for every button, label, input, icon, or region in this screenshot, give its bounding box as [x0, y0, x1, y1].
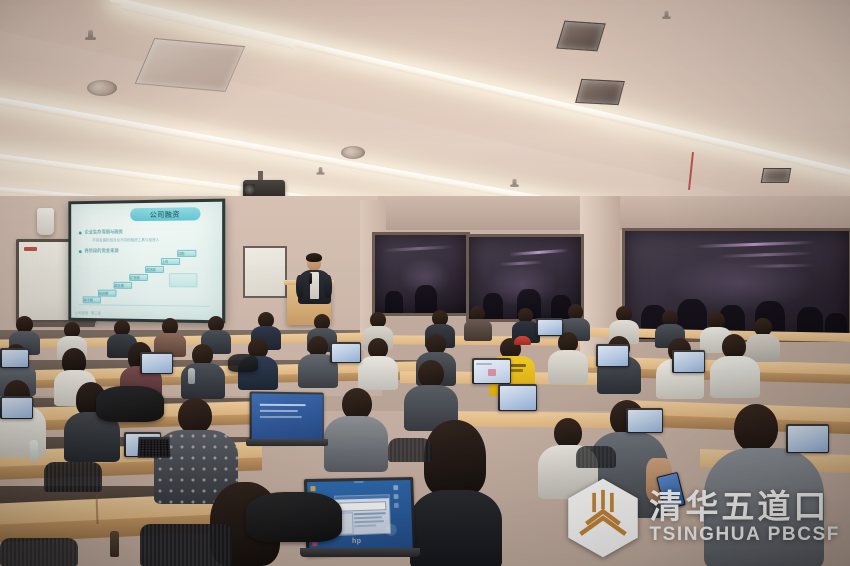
laptop-base: [246, 439, 328, 446]
laptop-screen: [2, 350, 28, 367]
laptop-lid: [250, 391, 324, 443]
laptop-screen: [142, 354, 172, 373]
window-content-line: [354, 524, 376, 526]
window-reflection: [509, 249, 569, 256]
slide-bullet-2: 各阶段的资金来源: [85, 248, 119, 254]
chair-4[interactable]: [388, 438, 432, 462]
backpack-2: [246, 492, 342, 542]
attendee-head: [554, 418, 582, 448]
laptop-lid: [330, 342, 361, 363]
attendee-torso: [710, 356, 760, 398]
attendee-torso: [410, 490, 502, 566]
ceiling: [0, 0, 850, 215]
laptop-lid: [536, 318, 563, 336]
laptop-lid: [140, 352, 173, 374]
laptop-lid: [596, 344, 629, 367]
sprinkler-head-4: [665, 11, 669, 18]
slide-title: 公司融资: [130, 207, 200, 221]
chair-1[interactable]: [44, 462, 102, 492]
slide-bullet-1: 企业生命周期与融资: [85, 229, 123, 235]
desktop-icon[interactable]: [393, 485, 398, 490]
chair-3[interactable]: [0, 538, 78, 566]
slide-axis-x: [79, 304, 210, 306]
laptop-lid: [0, 396, 33, 419]
window-input-field[interactable]: [338, 501, 386, 511]
tsinghua-pbcsf-watermark: 清华五道口 TSINGHUA PBCSF: [566, 478, 840, 558]
slide-step-label-1: 种子期: [84, 297, 93, 302]
window-silhouette: [385, 291, 403, 313]
water-bottle-3: [188, 368, 195, 384]
presenter-arm-left: [296, 275, 304, 298]
attendee-head: [734, 404, 778, 452]
window-silhouette: [415, 285, 437, 313]
desktop-watermark: [385, 524, 397, 536]
desktop-icon[interactable]: [394, 503, 399, 508]
laptop-lid: [472, 358, 511, 384]
laptop-lid: [0, 348, 29, 368]
laptop-lid: [626, 408, 663, 433]
ceiling-vent-1: [135, 38, 246, 92]
laptop-lid: [786, 424, 829, 453]
ceiling-vent-4: [761, 168, 792, 183]
slide-step-label-6: 上市: [162, 259, 168, 264]
ceiling-speaker-1: [87, 80, 117, 96]
attendee-torso: [324, 416, 388, 472]
slide-step-label-4: 扩张期: [130, 275, 139, 280]
laptop-screen: [332, 344, 360, 362]
whiteboard-center: [243, 246, 287, 298]
attendee-torso: [464, 319, 492, 341]
water-bottle-1: [30, 440, 38, 462]
screen-content-line: [259, 409, 297, 411]
window-content-line: [354, 520, 384, 523]
laptop-screen: [598, 346, 628, 366]
window-titlebar: [335, 495, 389, 499]
screen-content-line: [259, 403, 305, 405]
slide-footer: 公司金融 · 第三讲: [75, 310, 101, 315]
slide-step-label-7: 并购: [178, 251, 184, 256]
lecture-hall-photo: 公司融资 企业生命周期与融资 不同发展阶段对应不同的融资工具与投资人 各阶段的资…: [0, 0, 850, 566]
laptop-screen: [500, 386, 536, 410]
attendee-torso: [358, 356, 398, 390]
attendee-torso: [548, 350, 588, 384]
backpack-3: [228, 354, 258, 372]
projected-slide: 公司融资 企业生命周期与融资 不同发展阶段对应不同的融资工具与投资人 各阶段的资…: [71, 202, 222, 321]
laptop-screen: [251, 393, 322, 442]
backpack-1: [96, 386, 164, 422]
webcam-indicator: [354, 480, 364, 483]
laptop-lid: [498, 384, 537, 411]
calculator[interactable]: [138, 437, 171, 458]
slide-step-label-5: 成熟期: [146, 267, 156, 272]
calculator-keys: [139, 440, 170, 457]
ceiling-vent-3: [575, 79, 625, 105]
ceiling-vent-2: [556, 21, 606, 52]
screen-content-line: [259, 415, 301, 417]
window-content-line: [354, 516, 382, 518]
whiteboard-marking: [24, 247, 37, 251]
laptop-screen: [538, 320, 562, 335]
slide-subnote: 不同发展阶段对应不同的融资工具与投资人: [92, 238, 159, 243]
window-panel-3: [622, 228, 850, 342]
attendee-head: [178, 398, 212, 434]
watermark-english: TSINGHUA PBCSF: [649, 525, 840, 546]
wall-speaker: [37, 208, 54, 235]
laptop-screen: [788, 426, 828, 452]
watermark-chinese: 清华五道口: [649, 490, 840, 525]
projection-screen: 公司融资 企业生命周期与融资 不同发展阶段对应不同的融资工具与投资人 各阶段的资…: [68, 199, 225, 324]
microphone: [309, 273, 312, 284]
laptop-base: [300, 548, 420, 557]
window-reflection: [383, 245, 453, 252]
laptop-screen: [474, 360, 510, 383]
window-panel-1: [372, 232, 470, 316]
screen-content-line: [476, 363, 492, 365]
water-bottle-2: [110, 531, 119, 557]
desktop-icon[interactable]: [310, 486, 315, 491]
slide-callout-box: [169, 273, 197, 287]
presenter-hair: [306, 253, 322, 262]
hp-logo: hp: [352, 538, 362, 545]
desktop-icon[interactable]: [394, 494, 399, 499]
window-content-line: [354, 512, 386, 515]
attendee-hair: [424, 420, 486, 496]
laptop-screen: [674, 352, 704, 372]
presenter-arm-right: [324, 275, 332, 298]
slide-step-label-3: 成长期: [115, 283, 124, 288]
sprinkler-head-2: [513, 179, 517, 186]
laptop-screen: [2, 398, 32, 418]
sprinkler-head-3: [319, 167, 323, 174]
window-reflection: [695, 241, 815, 248]
attendee-head: [418, 360, 444, 388]
laptop-lid: [672, 350, 705, 373]
tsinghua-emblem-icon: [566, 478, 640, 558]
watermark-text: 清华五道口 TSINGHUA PBCSF: [649, 490, 840, 547]
window-silhouette: [483, 293, 503, 319]
slide-step-label-2: 初创期: [99, 291, 108, 296]
chair-5[interactable]: [576, 446, 616, 468]
laptop-screen: [628, 410, 662, 432]
chair-2[interactable]: [140, 524, 232, 566]
open-window[interactable]: [334, 494, 391, 536]
ceiling-speaker-2: [341, 146, 365, 159]
screen-content-block: [488, 369, 496, 376]
red-cap: [514, 336, 531, 345]
sprinkler-head-1: [88, 30, 93, 39]
